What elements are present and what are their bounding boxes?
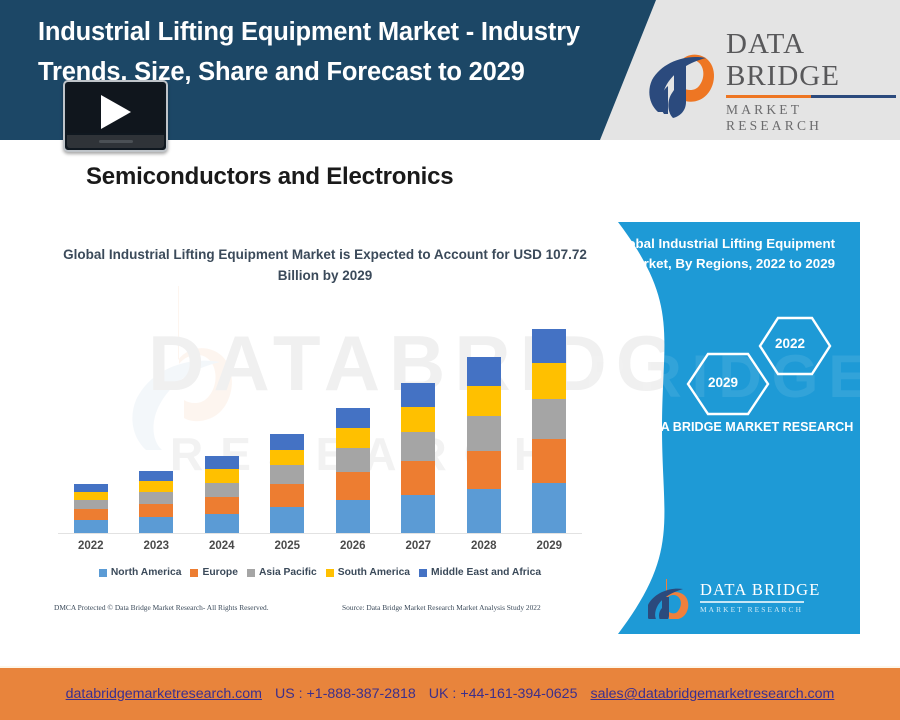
bar-segment xyxy=(401,432,435,461)
year-hexagons: 2022 2029 xyxy=(660,314,850,419)
x-axis-label: 2023 xyxy=(126,540,186,552)
legend-swatch xyxy=(326,569,334,577)
bar-segment xyxy=(205,514,239,533)
website-link[interactable]: databridgemarketresearch.com xyxy=(66,686,262,702)
category-title: Semiconductors and Electronics xyxy=(86,163,453,191)
source-note: Source: Data Bridge Market Research Mark… xyxy=(342,603,541,612)
regions-panel-title: Global Industrial Lifting Equipment Mark… xyxy=(595,234,835,274)
legend-label: Middle East and Africa xyxy=(431,567,541,578)
x-axis-label: 2022 xyxy=(61,540,121,552)
bar-segment xyxy=(336,500,370,533)
x-axis-label: 2026 xyxy=(323,540,383,552)
bar-segment xyxy=(336,408,370,428)
panel-logo-mark-icon xyxy=(648,577,694,619)
panel-logo-primary: DATA BRIDGE xyxy=(700,581,821,599)
hexagon-pair-icon xyxy=(660,314,850,419)
bar-segment xyxy=(336,448,370,472)
bar-segment xyxy=(74,492,108,500)
chart-headline: Global Industrial Lifting Equipment Mark… xyxy=(60,244,590,286)
bar-segment xyxy=(532,439,566,483)
hex-label-2029: 2029 xyxy=(708,375,738,390)
bar-group xyxy=(205,456,239,533)
bar-segment xyxy=(467,416,501,450)
bar-segment xyxy=(401,461,435,494)
brand-logo-primary: DATA BRIDGE xyxy=(726,28,896,92)
dmca-notice: DMCA Protected © Data Bridge Market Rese… xyxy=(54,603,269,612)
legend-label: Europe xyxy=(202,567,237,578)
bar-segment xyxy=(401,407,435,432)
panel-brand-logo: DATA BRIDGE MARKET RESEARCH xyxy=(648,577,828,619)
bar-segment xyxy=(74,520,108,533)
bar-segment xyxy=(205,497,239,514)
video-base xyxy=(67,135,164,148)
legend-swatch xyxy=(419,569,427,577)
bar-group xyxy=(401,383,435,533)
bar-segment xyxy=(74,500,108,509)
legend-item[interactable]: South America xyxy=(326,567,410,578)
legend-item[interactable]: Europe xyxy=(190,567,237,578)
hex-label-2022: 2022 xyxy=(775,336,805,351)
bar-segment xyxy=(139,517,173,533)
bar-segment xyxy=(270,465,304,484)
chart-baseline xyxy=(58,533,582,534)
bar-segment xyxy=(467,386,501,416)
bar-segment xyxy=(467,451,501,489)
legend-label: South America xyxy=(338,567,410,578)
bar-segment xyxy=(401,495,435,533)
slide-page: Industrial Lifting Equipment Market - In… xyxy=(0,0,900,720)
bar-segment xyxy=(205,483,239,498)
bar-segment xyxy=(270,450,304,466)
legend-swatch xyxy=(190,569,198,577)
brand-logo: DATA BRIDGE MARKET RESEARCH xyxy=(648,14,896,122)
bar-group xyxy=(467,357,501,533)
bar-segment xyxy=(270,484,304,507)
chart-legend: North AmericaEuropeAsia PacificSouth Ame… xyxy=(58,567,582,578)
legend-swatch xyxy=(247,569,255,577)
panel-logo-text: DATA BRIDGE MARKET RESEARCH xyxy=(700,581,821,614)
contact-bar: databridgemarketresearch.com US : +1-888… xyxy=(0,666,900,720)
legend-label: North America xyxy=(111,567,182,578)
bar-segment xyxy=(74,509,108,520)
bar-segment xyxy=(532,329,566,363)
legend-label: Asia Pacific xyxy=(259,567,317,578)
us-phone: US : +1-888-387-2818 xyxy=(275,686,416,702)
x-axis-label: 2027 xyxy=(388,540,448,552)
video-play-button[interactable] xyxy=(63,80,168,152)
bar-segment xyxy=(336,472,370,500)
bar-segment xyxy=(139,481,173,492)
legend-item[interactable]: North America xyxy=(99,567,182,578)
x-axis-labels: 20222023202420252026202720282029 xyxy=(58,540,582,558)
bar-group xyxy=(336,408,370,533)
x-axis-label: 2025 xyxy=(257,540,317,552)
bar-group xyxy=(139,471,173,533)
legend-item[interactable]: Middle East and Africa xyxy=(419,567,541,578)
bar-group xyxy=(532,329,566,533)
panel-logo-secondary: MARKET RESEARCH xyxy=(700,605,821,614)
bar-segment xyxy=(139,492,173,504)
bar-segment xyxy=(532,399,566,439)
bar-segment xyxy=(532,363,566,399)
regions-panel-brand: DATA BRIDGE MARKET RESEARCH xyxy=(630,418,860,436)
infographic-card: DATABRIDGE RESEARCH Global Industrial Li… xyxy=(40,222,860,634)
bar-chart-plot xyxy=(58,322,582,534)
panel-logo-rule xyxy=(700,601,804,603)
bar-segment xyxy=(467,357,501,386)
uk-phone: UK : +44-161-394-0625 xyxy=(429,686,578,702)
bar-segment xyxy=(139,504,173,517)
data-bridge-mark-icon xyxy=(648,18,722,118)
bar-segment xyxy=(205,469,239,482)
bar-segment xyxy=(401,383,435,407)
bar-group xyxy=(74,484,108,533)
x-axis-label: 2028 xyxy=(454,540,514,552)
bar-segment xyxy=(270,507,304,534)
bar-segment xyxy=(139,471,173,482)
bar-segment xyxy=(532,483,566,533)
bar-segment xyxy=(205,456,239,469)
bar-group xyxy=(270,434,304,533)
brand-logo-secondary: MARKET RESEARCH xyxy=(726,102,896,134)
bar-segment xyxy=(270,434,304,450)
legend-item[interactable]: Asia Pacific xyxy=(247,567,317,578)
x-axis-label: 2024 xyxy=(192,540,252,552)
bar-segment xyxy=(336,428,370,448)
play-icon xyxy=(101,95,131,129)
brand-logo-rule xyxy=(726,95,896,98)
email-link[interactable]: sales@databridgemarketresearch.com xyxy=(590,686,834,702)
bar-segment xyxy=(74,484,108,492)
bar-segment xyxy=(467,489,501,533)
legend-swatch xyxy=(99,569,107,577)
brand-logo-text: DATA BRIDGE MARKET RESEARCH xyxy=(726,28,896,134)
